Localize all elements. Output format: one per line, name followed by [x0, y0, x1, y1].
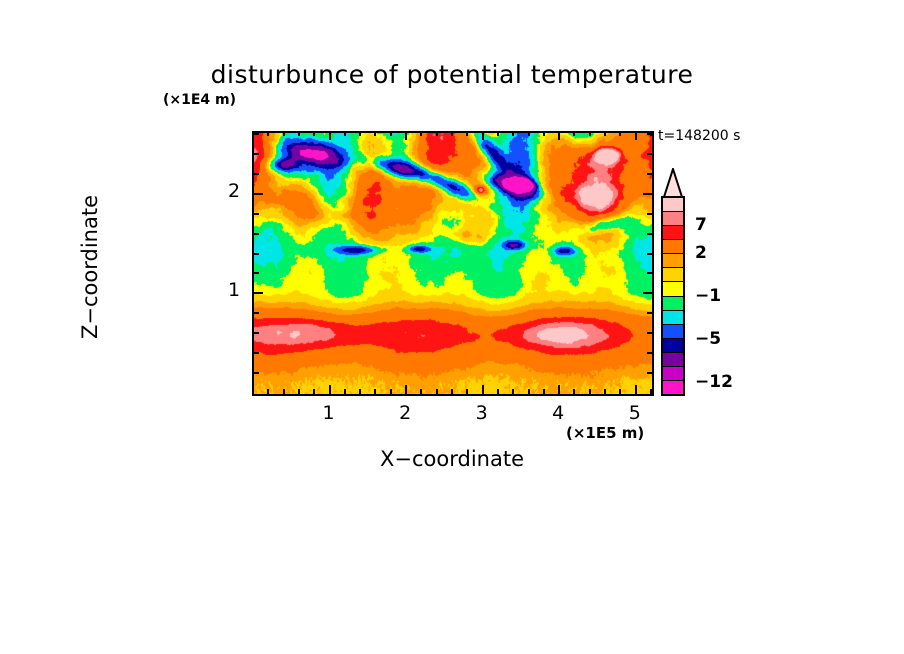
y-minor-tick: [254, 153, 259, 155]
colorbar-band-purple: [663, 353, 683, 367]
colorbar-band-navy: [663, 339, 683, 353]
colorbar-arrow-tip: [661, 168, 685, 198]
x-minor-tick-top: [589, 131, 591, 136]
y-minor-tick-right: [647, 272, 652, 274]
y-minor-tick-right: [647, 352, 652, 354]
x-minor-tick-top: [313, 131, 315, 136]
y-minor-tick: [254, 332, 259, 334]
x-major-tick: [405, 385, 407, 394]
x-minor-tick-top: [374, 131, 376, 136]
x-minor-tick: [589, 389, 591, 394]
colorbar-band-green: [663, 297, 683, 311]
x-minor-tick: [543, 389, 545, 394]
x-tick-label: 1: [323, 402, 335, 424]
colorbar-band-orange: [663, 240, 683, 254]
x-minor-tick: [604, 389, 606, 394]
contour-plot-area: [252, 131, 654, 396]
x-minor-tick-top: [420, 131, 422, 136]
y-minor-tick-right: [647, 173, 652, 175]
colorbar-band-light-pink: [663, 198, 683, 212]
x-major-tick: [329, 385, 331, 394]
y-minor-tick: [254, 372, 259, 374]
colorbar-tick-label: −5: [695, 329, 721, 349]
y-tick-label: 2: [228, 180, 240, 202]
y-minor-tick-right: [647, 213, 652, 215]
y-minor-tick-right: [647, 332, 652, 334]
x-minor-tick-top: [604, 131, 606, 136]
x-major-tick: [482, 385, 484, 394]
x-minor-tick: [420, 389, 422, 394]
y-major-tick: [254, 292, 263, 294]
x-major-tick-top: [558, 131, 560, 140]
x-minor-tick: [619, 389, 621, 394]
colorbar-tick-label: −12: [695, 372, 733, 392]
x-minor-tick: [466, 389, 468, 394]
x-tick-label: 5: [629, 402, 641, 424]
y-major-tick-right: [643, 292, 652, 294]
y-minor-tick-right: [647, 312, 652, 314]
x-minor-tick-top: [573, 131, 575, 136]
x-minor-tick-top: [359, 131, 361, 136]
timestamp-annotation: t=148200 s: [658, 128, 740, 144]
y-minor-tick-right: [647, 253, 652, 255]
colorbar: 72−1−5−12: [661, 168, 685, 396]
x-tick-label: 3: [476, 402, 488, 424]
colorbar-tick-label: 7: [695, 215, 707, 235]
x-minor-tick: [359, 389, 361, 394]
x-minor-tick: [650, 389, 652, 394]
x-minor-tick: [344, 389, 346, 394]
y-minor-tick: [254, 233, 259, 235]
x-minor-tick: [267, 389, 269, 394]
x-minor-tick-top: [451, 131, 453, 136]
x-minor-tick-top: [436, 131, 438, 136]
y-minor-tick-right: [647, 372, 652, 374]
x-minor-tick: [283, 389, 285, 394]
x-major-tick-top: [405, 131, 407, 140]
y-minor-tick: [254, 272, 259, 274]
colorbar-tick-label: 2: [695, 243, 707, 263]
y-axis-title: Z−coordinate: [78, 142, 102, 392]
y-minor-tick: [254, 173, 259, 175]
colorbar-band-gold: [663, 268, 683, 282]
x-minor-tick-top: [497, 131, 499, 136]
x-major-tick: [635, 385, 637, 394]
x-tick-label: 2: [399, 402, 411, 424]
x-major-tick: [558, 385, 560, 394]
y-minor-tick-right: [647, 153, 652, 155]
x-minor-tick: [528, 389, 530, 394]
x-minor-tick: [313, 389, 315, 394]
x-minor-tick: [451, 389, 453, 394]
x-minor-tick: [390, 389, 392, 394]
x-major-tick-top: [482, 131, 484, 140]
x-minor-tick-top: [298, 131, 300, 136]
colorbar-band-amber: [663, 254, 683, 268]
x-minor-tick-top: [344, 131, 346, 136]
x-minor-tick-top: [528, 131, 530, 136]
y-minor-tick-right: [647, 233, 652, 235]
x-minor-tick-top: [267, 131, 269, 136]
x-minor-tick: [512, 389, 514, 394]
colorbar-band-blue: [663, 325, 683, 339]
figure-canvas: disturbunce of potential temperature (×1…: [0, 0, 904, 654]
x-minor-tick-top: [390, 131, 392, 136]
x-minor-tick: [374, 389, 376, 394]
colorbar-band-red: [663, 226, 683, 240]
y-minor-tick: [254, 352, 259, 354]
x-axis-title: X−coordinate: [0, 447, 904, 471]
x-minor-tick-top: [283, 131, 285, 136]
page-title: disturbunce of potential temperature: [0, 60, 904, 89]
colorbar-tick-label: −1: [695, 286, 721, 306]
y-major-tick-right: [643, 193, 652, 195]
colorbar-bands: [661, 196, 685, 396]
x-minor-tick: [573, 389, 575, 394]
colorbar-band-salmon: [663, 212, 683, 226]
y-minor-tick: [254, 253, 259, 255]
y-tick-label: 1: [228, 279, 240, 301]
colorbar-band-yellow: [663, 282, 683, 296]
z-axis-unit-label: (×1E4 m): [163, 92, 236, 108]
contour-field: [254, 133, 652, 394]
x-minor-tick: [497, 389, 499, 394]
x-major-tick-top: [635, 131, 637, 140]
x-minor-tick: [436, 389, 438, 394]
x-minor-tick-top: [619, 131, 621, 136]
colorbar-band-magenta: [663, 381, 683, 394]
x-major-tick-top: [329, 131, 331, 140]
x-minor-tick-top: [512, 131, 514, 136]
x-minor-tick: [298, 389, 300, 394]
x-axis-unit-label: (×1E5 m): [566, 424, 644, 442]
colorbar-band-cyan: [663, 311, 683, 325]
x-minor-tick-top: [466, 131, 468, 136]
colorbar-band-magenta-purple: [663, 367, 683, 381]
x-tick-label: 4: [552, 402, 564, 424]
y-minor-tick-right: [647, 133, 652, 135]
x-minor-tick-top: [543, 131, 545, 136]
y-major-tick: [254, 193, 263, 195]
y-minor-tick: [254, 133, 259, 135]
y-minor-tick: [254, 213, 259, 215]
y-minor-tick: [254, 312, 259, 314]
